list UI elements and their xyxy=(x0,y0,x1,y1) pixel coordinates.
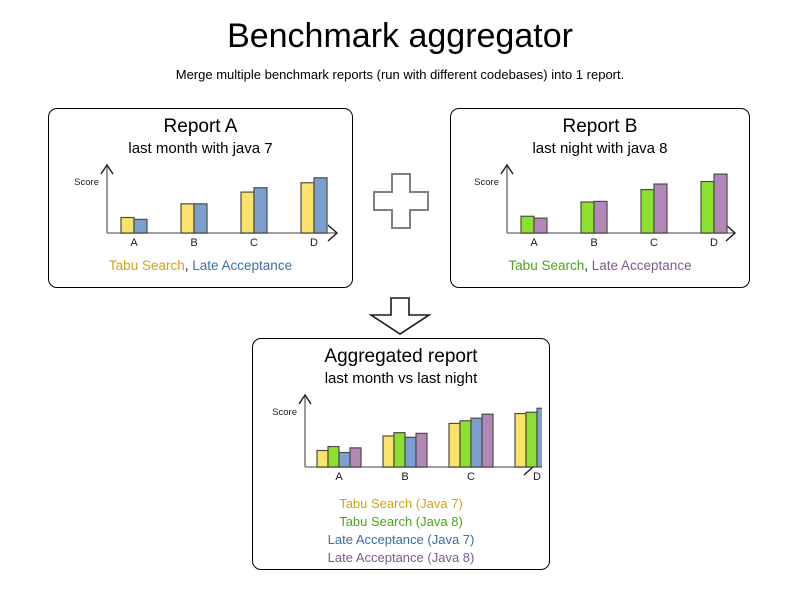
benchmark-aggregator-diagram: Benchmark aggregator Merge multiple benc… xyxy=(0,0,800,600)
svg-text:B: B xyxy=(401,471,408,483)
aggregated-report-subtitle: last month vs last night xyxy=(253,369,549,389)
report-a-subtitle: last month with java 7 xyxy=(49,139,352,159)
svg-text:D: D xyxy=(710,237,718,249)
report-b-panel: Report B last night with java 8 ScoreABC… xyxy=(450,108,750,288)
svg-text:Score: Score xyxy=(74,177,99,188)
report-a-panel: Report A last month with java 7 ScoreABC… xyxy=(48,108,353,288)
aggregated-report-panel: Aggregated report last month vs last nig… xyxy=(252,338,550,570)
svg-text:A: A xyxy=(130,237,138,249)
report-b-title: Report B xyxy=(451,115,749,139)
svg-text:D: D xyxy=(310,237,318,249)
legend-item-tabu-search: Tabu Search xyxy=(109,258,185,273)
svg-text:C: C xyxy=(467,471,475,483)
aggregated-report-legend: Tabu Search (Java 7) Tabu Search (Java 8… xyxy=(253,495,549,567)
legend-item-late-acceptance: Late Acceptance xyxy=(592,258,692,273)
report-b-chart: ScoreABCD xyxy=(451,159,749,255)
legend-item-late-java8: Late Acceptance (Java 8) xyxy=(253,549,549,567)
report-a-legend: Tabu Search, Late Acceptance xyxy=(49,257,352,275)
legend-item-tabu-java7: Tabu Search (Java 7) xyxy=(253,495,549,513)
aggregated-report-title: Aggregated report xyxy=(253,345,549,369)
svg-text:Score: Score xyxy=(474,177,499,188)
page-title: Benchmark aggregator xyxy=(0,16,800,56)
legend-item-late-java7: Late Acceptance (Java 7) xyxy=(253,531,549,549)
report-b-subtitle: last night with java 8 xyxy=(451,139,749,159)
legend-separator: , xyxy=(584,258,592,273)
svg-text:Score: Score xyxy=(272,407,297,418)
svg-text:A: A xyxy=(530,237,538,249)
svg-text:B: B xyxy=(590,237,597,249)
legend-item-tabu-java8: Tabu Search (Java 8) xyxy=(253,513,549,531)
plus-icon xyxy=(366,168,436,238)
report-b-legend: Tabu Search, Late Acceptance xyxy=(451,257,749,275)
aggregated-report-chart: ScoreABCD xyxy=(253,389,549,491)
svg-text:A: A xyxy=(335,471,343,483)
page-subtitle: Merge multiple benchmark reports (run wi… xyxy=(0,66,800,84)
report-a-chart: ScoreABCD xyxy=(49,159,352,255)
svg-text:C: C xyxy=(650,237,658,249)
svg-text:C: C xyxy=(250,237,258,249)
svg-text:B: B xyxy=(190,237,197,249)
report-a-title: Report A xyxy=(49,115,352,139)
svg-text:D: D xyxy=(533,471,541,483)
legend-item-late-acceptance: Late Acceptance xyxy=(192,258,292,273)
legend-item-tabu-search: Tabu Search xyxy=(508,258,584,273)
down-arrow-icon xyxy=(368,296,432,336)
